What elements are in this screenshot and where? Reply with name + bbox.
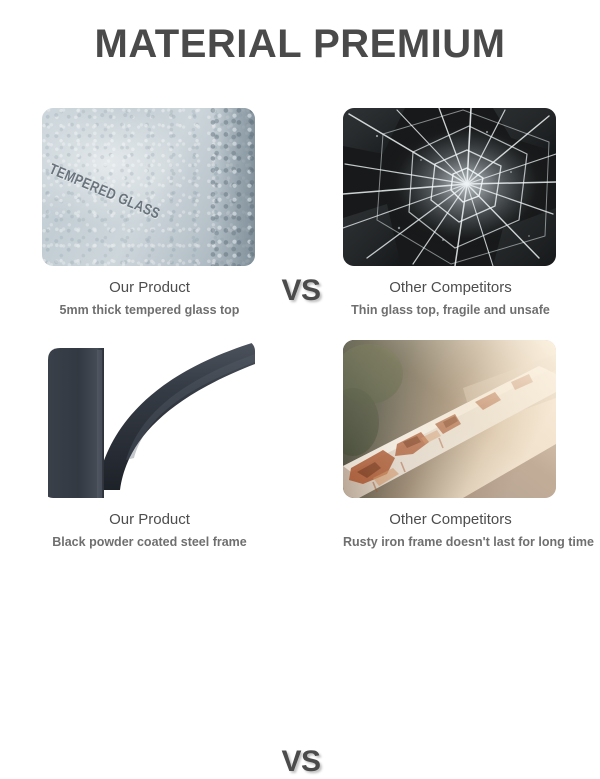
competitor-glass-heading: Other Competitors [343, 278, 558, 298]
competitor-glass-cell: Other Competitors Thin glass top, fragil… [343, 108, 558, 319]
steel-tube-shape [42, 340, 255, 498]
rusty-railing-shape [343, 340, 556, 498]
material-premium-comparison-page: MATERIAL PREMIUM TEMPERED GLASS Our Prod… [0, 0, 600, 600]
black-steel-frame-image [42, 340, 255, 498]
shattered-glass-image [343, 108, 556, 266]
shattered-glass-cracks [343, 108, 556, 266]
our-product-frame-heading: Our Product [42, 510, 257, 530]
our-product-frame-cell: Our Product Black powder coated steel fr… [42, 340, 257, 551]
our-product-frame-description: Black powder coated steel frame [42, 534, 257, 551]
our-product-glass-heading: Our Product [42, 278, 257, 298]
page-title: MATERIAL PREMIUM [0, 20, 600, 68]
rusty-railing-image [343, 340, 556, 498]
tempered-glass-panel-image: TEMPERED GLASS [42, 108, 255, 266]
competitor-frame-cell: Other Competitors Rusty iron frame doesn… [343, 340, 558, 551]
our-product-glass-description: 5mm thick tempered glass top [42, 302, 257, 319]
competitor-glass-description: Thin glass top, fragile and unsafe [343, 302, 558, 319]
competitor-frame-description: Rusty iron frame doesn't last for long t… [343, 534, 558, 551]
vs-badge-glass: VS [266, 274, 336, 308]
competitor-frame-heading: Other Competitors [343, 510, 558, 530]
glass-edge-texture [209, 108, 255, 266]
our-product-glass-cell: TEMPERED GLASS Our Product 5mm thick tem… [42, 108, 257, 319]
vs-badge-frame: VS [266, 745, 336, 779]
